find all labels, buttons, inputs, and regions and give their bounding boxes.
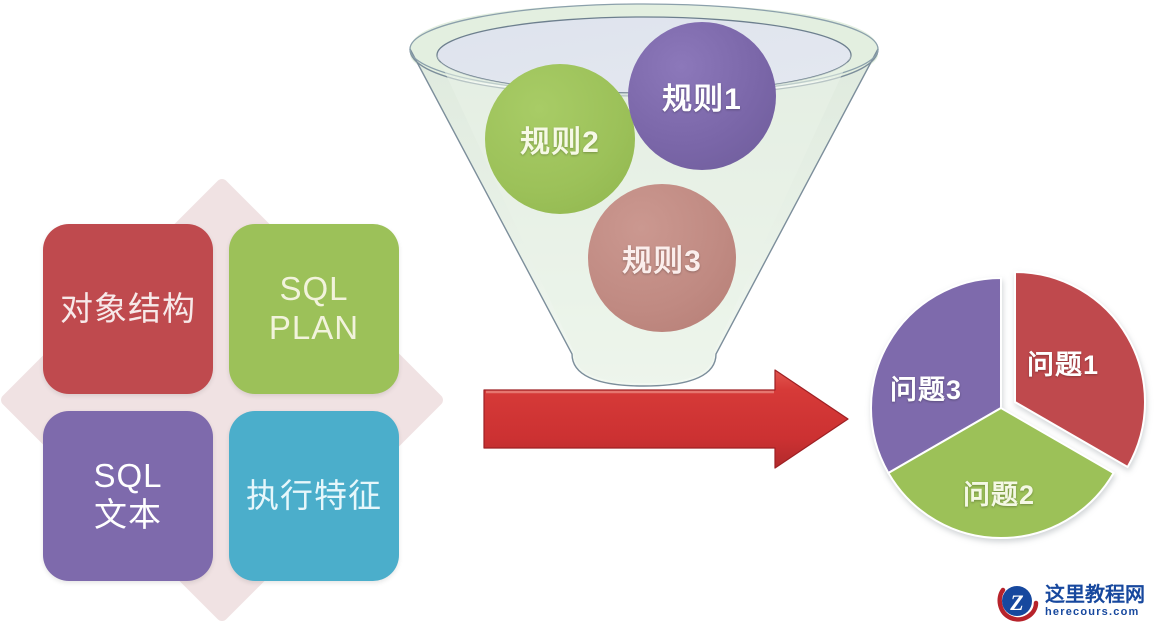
brand-logo-letter: Z xyxy=(1009,590,1023,615)
rule-bubble-2-label: 规则2 xyxy=(520,117,600,161)
rule-bubble-1[interactable]: 规则1 xyxy=(628,22,776,170)
site-watermark: Z 这里教程网 herecours.com xyxy=(996,580,1158,624)
watermark-domain: herecours.com xyxy=(1045,606,1145,618)
pie-chart-svg xyxy=(855,258,1155,558)
tile-object-structure-label: 对象结构 xyxy=(60,290,196,329)
rules-funnel-group: 规则2 规则1 规则3 xyxy=(398,2,890,394)
pie-label-problem3: 问题3 xyxy=(890,368,962,407)
tile-object-structure[interactable]: 对象结构 xyxy=(43,224,213,394)
problems-pie-chart: 问题1 问题2 问题3 xyxy=(855,258,1155,558)
watermark-chinese-name: 这里教程网 xyxy=(1045,585,1145,606)
tile-sql-plan-label: SQL PLAN xyxy=(269,270,359,348)
rule-bubble-1-label: 规则1 xyxy=(662,74,742,118)
tile-sql-plan[interactable]: SQL PLAN xyxy=(229,224,399,394)
tile-sql-text-label: SQL 文本 xyxy=(93,457,162,535)
watermark-text-block: 这里教程网 herecours.com xyxy=(1045,585,1145,618)
rule-bubble-3-label: 规则3 xyxy=(622,236,702,280)
rule-bubble-3[interactable]: 规则3 xyxy=(588,184,736,332)
rule-bubble-2[interactable]: 规则2 xyxy=(485,64,635,214)
brand-logo-icon: Z xyxy=(996,581,1040,623)
input-attributes-group: 对象结构 SQL PLAN SQL 文本 执行特征 xyxy=(0,170,450,628)
diagram-canvas: 对象结构 SQL PLAN SQL 文本 执行特征 xyxy=(0,0,1164,628)
tile-execution-feature[interactable]: 执行特征 xyxy=(229,411,399,581)
right-arrow-icon xyxy=(482,368,850,476)
tile-sql-text[interactable]: SQL 文本 xyxy=(43,411,213,581)
flow-arrow-group xyxy=(482,368,850,476)
pie-label-problem1: 问题1 xyxy=(1027,343,1099,382)
tile-execution-feature-label: 执行特征 xyxy=(246,477,382,516)
pie-label-problem2: 问题2 xyxy=(963,473,1035,512)
